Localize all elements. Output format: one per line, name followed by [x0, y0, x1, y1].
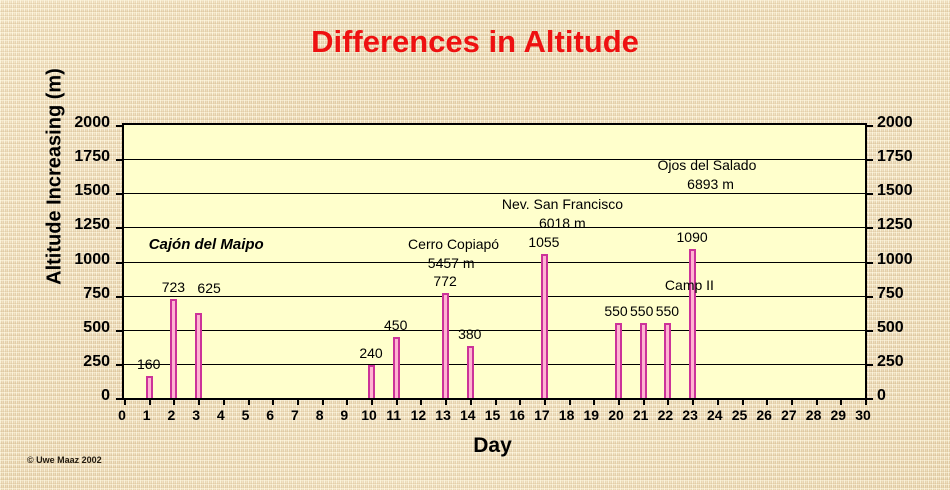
chart-annotation: 6893 m: [687, 176, 734, 192]
x-axis-tick: [248, 398, 250, 405]
y-axis-label: 1000: [52, 251, 110, 269]
y-axis-tick: [116, 193, 123, 195]
gridline: [124, 193, 865, 194]
x-axis-label: 10: [357, 407, 381, 423]
y-axis-tick: [116, 364, 123, 366]
plot-area: 16072362524045077238010555505505501090 C…: [122, 123, 867, 400]
x-axis-label: 18: [555, 407, 579, 423]
chart-annotation: Cerro Copiapó: [408, 236, 499, 252]
x-axis-tick: [643, 398, 645, 405]
bar-value-label: 240: [351, 345, 391, 361]
y-axis-label: 0: [877, 387, 935, 405]
y-axis-tick: [866, 193, 873, 195]
page-title: Differences in Altitude: [0, 24, 950, 60]
x-axis-label: 19: [579, 407, 603, 423]
bar-value-label: 1090: [672, 229, 712, 245]
y-axis-label: 0: [52, 387, 110, 405]
x-axis-tick: [371, 398, 373, 405]
x-axis-tick: [667, 398, 669, 405]
x-axis-tick: [519, 398, 521, 405]
y-axis-tick: [866, 296, 873, 298]
bar-value-label: 1055: [524, 234, 564, 250]
bar-value-label: 160: [129, 356, 169, 372]
bar-value-label: 380: [450, 326, 490, 342]
y-axis-tick: [116, 296, 123, 298]
x-axis-tick: [223, 398, 225, 405]
x-axis-tick: [865, 398, 867, 405]
x-axis-label: 25: [728, 407, 752, 423]
x-axis-label: 30: [851, 407, 875, 423]
x-axis-tick: [149, 398, 151, 405]
bar: [146, 376, 153, 398]
y-axis-label: 1250: [52, 216, 110, 234]
bar: [664, 323, 671, 398]
bar: [615, 323, 622, 398]
x-axis-label: 6: [258, 407, 282, 423]
y-axis-label: 2000: [877, 114, 935, 132]
y-axis-tick: [116, 227, 123, 229]
y-axis-tick: [116, 262, 123, 264]
x-axis-label: 24: [703, 407, 727, 423]
x-axis-label: 26: [752, 407, 776, 423]
x-axis-label: 14: [456, 407, 480, 423]
x-axis-label: 3: [184, 407, 208, 423]
x-axis-label: 1: [135, 407, 159, 423]
y-axis-tick: [116, 330, 123, 332]
copyright-notice: © Uwe Maaz 2002: [27, 455, 102, 465]
x-axis-label: 8: [308, 407, 332, 423]
y-axis-tick: [866, 227, 873, 229]
gridline: [124, 296, 865, 297]
bar: [393, 337, 400, 398]
y-axis-tick: [116, 159, 123, 161]
x-axis-label: 16: [505, 407, 529, 423]
gridline: [124, 262, 865, 263]
y-axis-label: 1750: [877, 148, 935, 166]
x-axis-label: 13: [431, 407, 455, 423]
x-axis-tick: [618, 398, 620, 405]
x-axis-tick: [816, 398, 818, 405]
x-axis-label: 15: [481, 407, 505, 423]
chart-canvas: Differences in Altitude Altitude Increas…: [0, 0, 950, 490]
chart-annotation: 6018 m: [539, 215, 586, 231]
chart-annotation: Ojos del Salado: [658, 157, 757, 173]
y-axis-tick: [866, 125, 873, 127]
x-axis-tick: [396, 398, 398, 405]
y-axis-label: 250: [877, 353, 935, 371]
y-axis-tick: [866, 330, 873, 332]
y-axis-title: Altitude Increasing (m): [44, 27, 67, 327]
bar: [467, 346, 474, 398]
y-axis-tick: [866, 398, 873, 400]
x-axis-label: 20: [604, 407, 628, 423]
y-axis-label: 1000: [877, 251, 935, 269]
x-axis-tick: [297, 398, 299, 405]
y-axis-tick: [866, 159, 873, 161]
x-axis-tick: [198, 398, 200, 405]
x-axis-label: 4: [209, 407, 233, 423]
y-axis-label: 1500: [877, 182, 935, 200]
y-axis-label: 1250: [877, 216, 935, 234]
gridline: [124, 364, 865, 365]
x-axis-tick: [593, 398, 595, 405]
x-axis-tick: [470, 398, 472, 405]
x-axis-label: 7: [283, 407, 307, 423]
y-axis-label: 750: [877, 285, 935, 303]
bar-value-label: 723: [153, 279, 193, 295]
y-axis-tick: [866, 364, 873, 366]
x-axis-label: 9: [332, 407, 356, 423]
bar-value-label: 550: [647, 303, 687, 319]
y-axis-label: 1750: [52, 148, 110, 166]
x-axis-tick: [445, 398, 447, 405]
x-axis-label: 2: [159, 407, 183, 423]
bar-value-label: 450: [376, 317, 416, 333]
chart-annotation: 5457 m: [428, 255, 475, 271]
y-axis-tick: [866, 262, 873, 264]
x-axis-label: 21: [629, 407, 653, 423]
bar: [640, 323, 647, 398]
bar-value-label: 772: [425, 273, 465, 289]
bar-value-label: 625: [189, 280, 229, 296]
x-axis-label: 0: [110, 407, 134, 423]
y-axis-label: 500: [877, 319, 935, 337]
y-axis-label: 500: [52, 319, 110, 337]
x-axis-tick: [791, 398, 793, 405]
bar: [442, 293, 449, 398]
x-axis-title: Day: [122, 434, 863, 458]
x-axis-tick: [322, 398, 324, 405]
x-axis-label: 5: [234, 407, 258, 423]
y-axis-label: 2000: [52, 114, 110, 132]
x-axis-tick: [272, 398, 274, 405]
bar: [195, 313, 202, 398]
bar: [689, 249, 696, 398]
y-axis-label: 1500: [52, 182, 110, 200]
chart-annotation: Nev. San Francisco: [502, 196, 623, 212]
y-axis-label: 750: [52, 285, 110, 303]
x-axis-label: 17: [530, 407, 554, 423]
y-axis-tick: [116, 398, 123, 400]
x-axis-tick: [495, 398, 497, 405]
gridline: [124, 330, 865, 331]
x-axis-tick: [173, 398, 175, 405]
x-axis-tick: [544, 398, 546, 405]
x-axis-tick: [742, 398, 744, 405]
x-axis-tick: [840, 398, 842, 405]
x-axis-label: 29: [826, 407, 850, 423]
bar: [541, 254, 548, 398]
x-axis-tick: [124, 398, 126, 405]
x-axis-label: 12: [406, 407, 430, 423]
x-axis-label: 28: [802, 407, 826, 423]
x-axis-tick: [766, 398, 768, 405]
chart-annotation: Camp II: [665, 277, 714, 293]
y-axis-tick: [116, 125, 123, 127]
x-axis-tick: [717, 398, 719, 405]
x-axis-tick: [569, 398, 571, 405]
x-axis-tick: [692, 398, 694, 405]
bar: [170, 299, 177, 398]
x-axis-label: 27: [777, 407, 801, 423]
bar: [368, 365, 375, 398]
x-axis-tick: [346, 398, 348, 405]
x-axis-label: 11: [382, 407, 406, 423]
x-axis-label: 23: [678, 407, 702, 423]
y-axis-label: 250: [52, 353, 110, 371]
x-axis-label: 22: [653, 407, 677, 423]
x-axis-tick: [420, 398, 422, 405]
chart-annotation: Cajón del Maipo: [149, 236, 264, 253]
gridline: [124, 227, 865, 228]
